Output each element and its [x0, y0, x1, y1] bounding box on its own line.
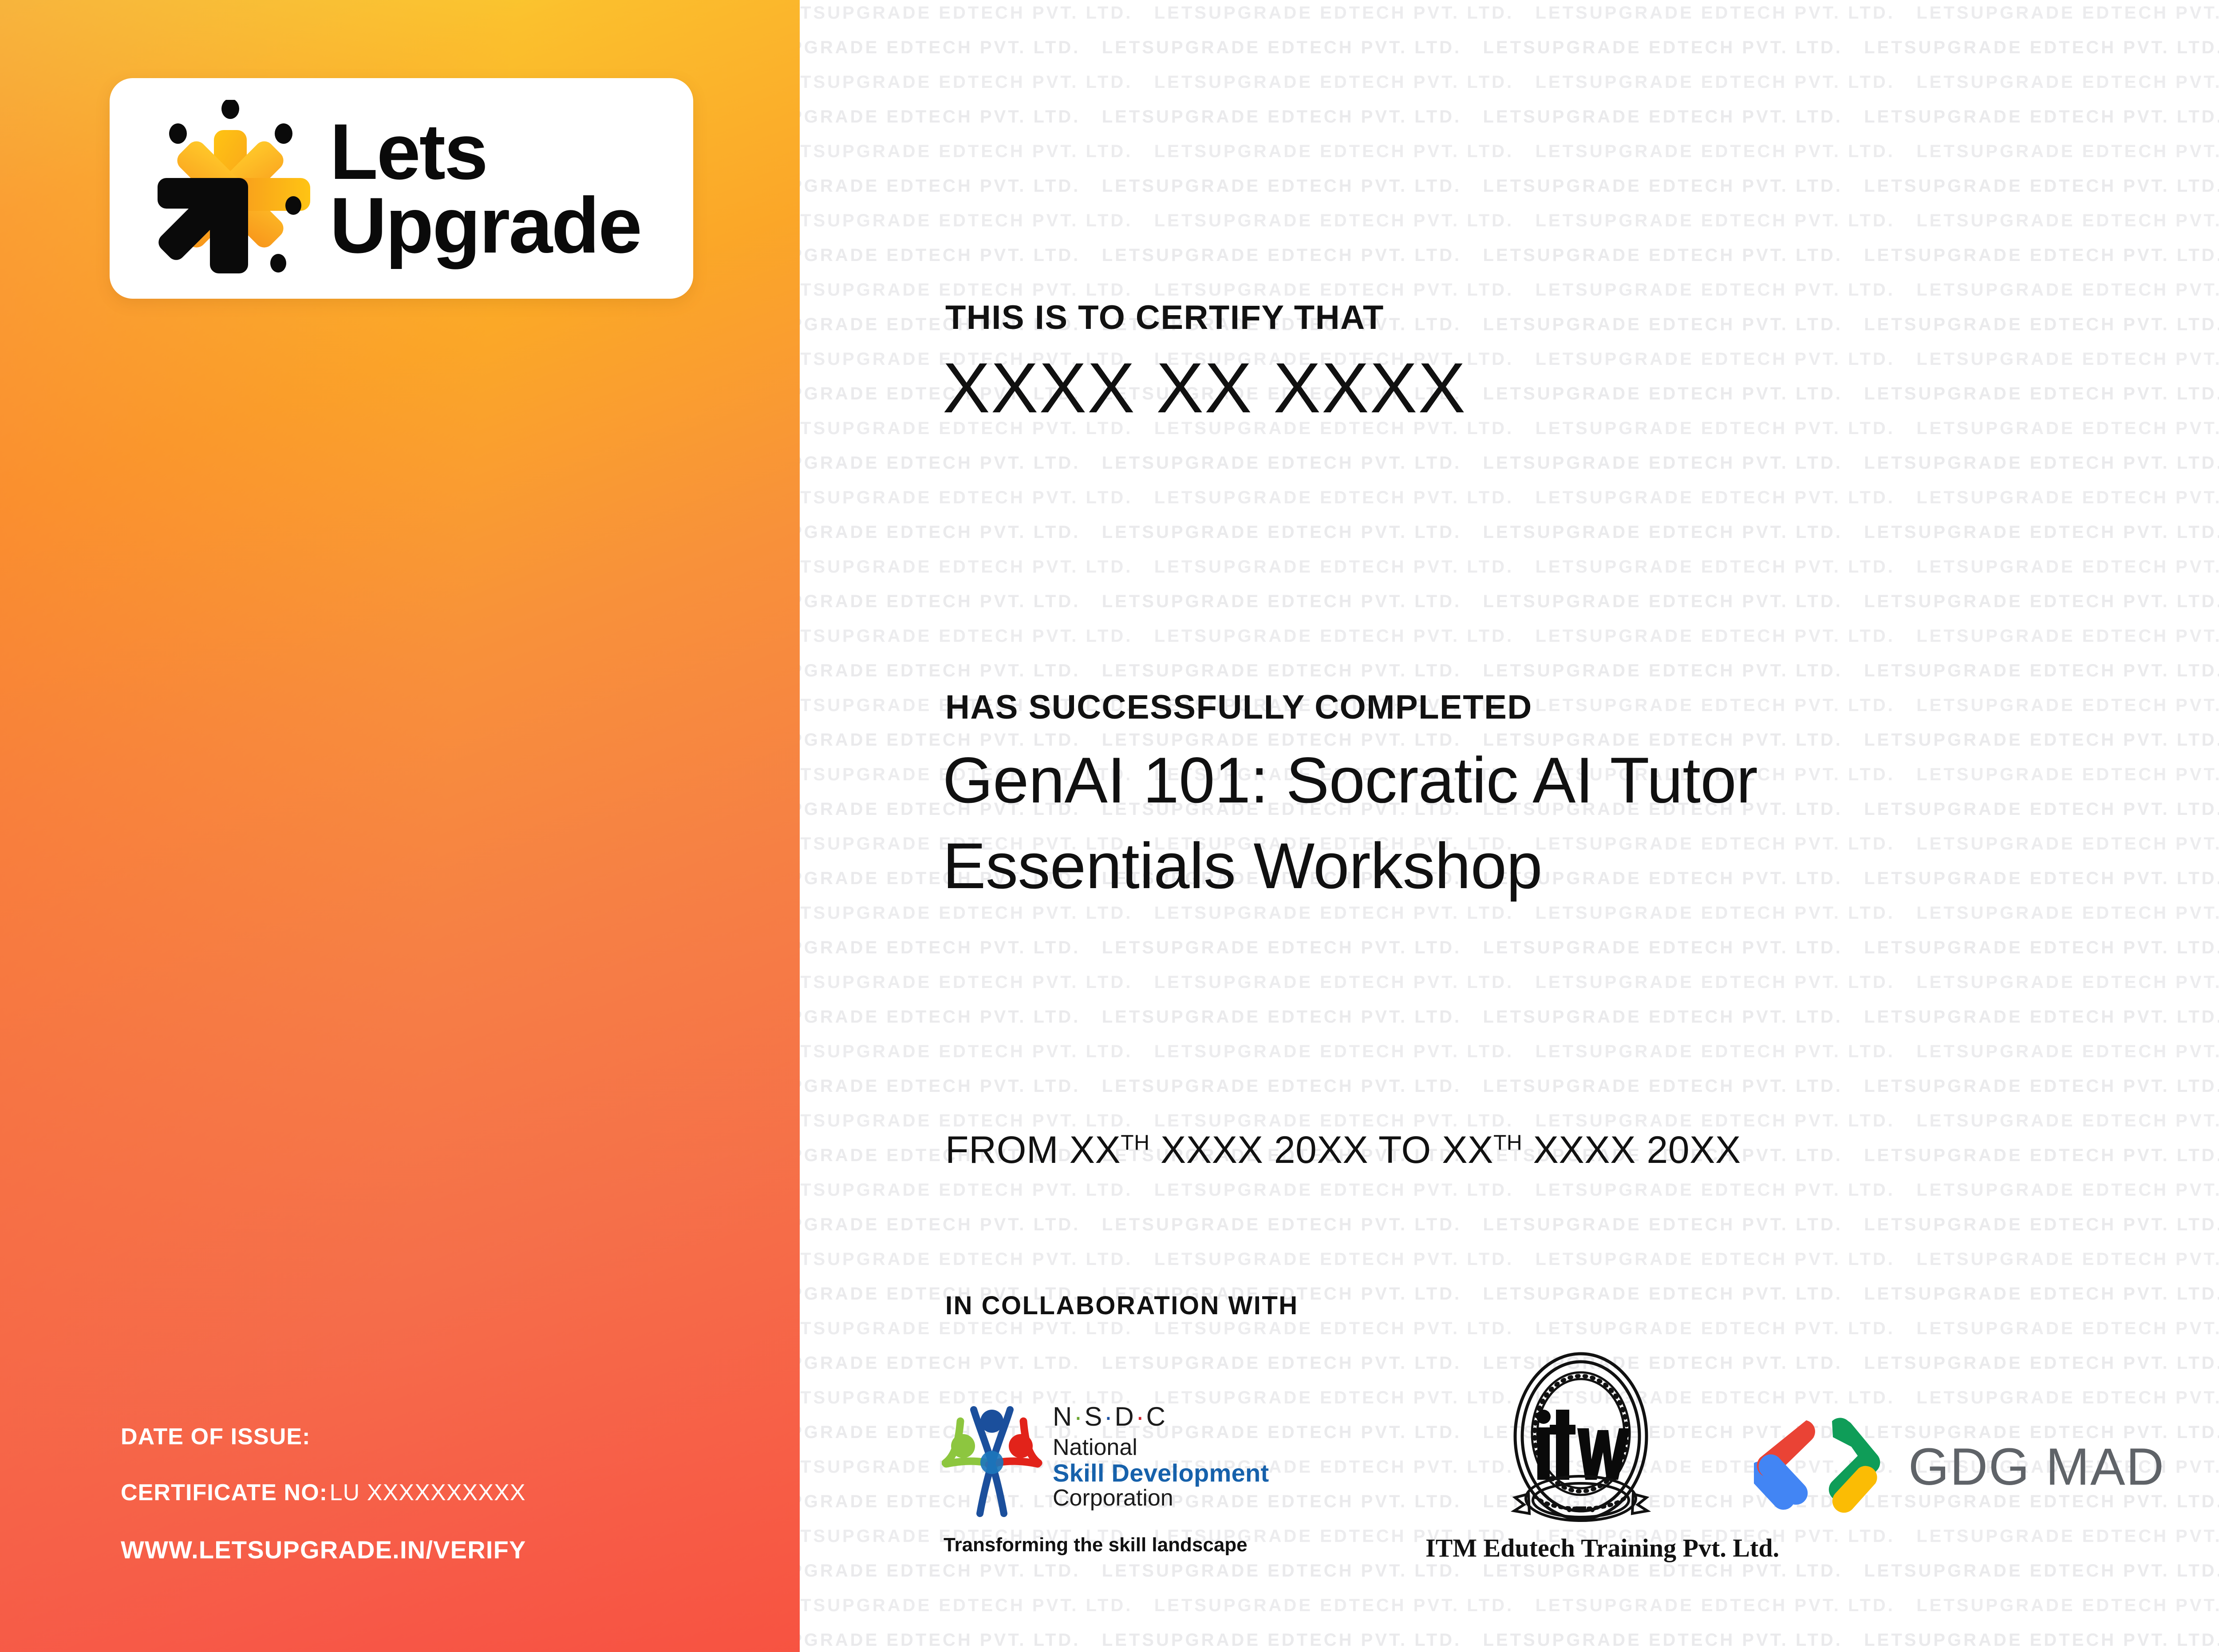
- nsdc-line-skill-development: Skill Development: [1053, 1460, 1269, 1486]
- nsdc-letter-d: D: [1114, 1402, 1135, 1431]
- certificate-content: THIS IS TO CERTIFY THAT XXXX XX XXXX HAS…: [800, 0, 2219, 1652]
- date-range-ordinal-1: TH: [1121, 1130, 1149, 1154]
- certificate-no-row: CERTIFICATE NO: LU XXXXXXXXXX: [121, 1479, 526, 1506]
- course-title: GenAI 101: Socratic AI Tutor Essentials …: [943, 738, 2021, 909]
- completed-label: HAS SUCCESSFULLY COMPLETED: [945, 688, 1532, 727]
- nsdc-letter-c: C: [1146, 1402, 1167, 1431]
- nsdc-people-icon: [942, 1394, 1044, 1527]
- partner-logos: N·S·D·C National Skill Development Corpo…: [911, 1349, 2219, 1598]
- partner-gdg: GDG MAD: [1754, 1416, 2165, 1518]
- date-range-ordinal-2: TH: [1493, 1130, 1522, 1154]
- partner-itm: ITM Edutech Training Pvt. Ltd.: [1425, 1349, 1736, 1563]
- recipient-name: XXXX XX XXXX: [943, 347, 1466, 429]
- date-of-issue-label: DATE OF ISSUE:: [121, 1424, 311, 1450]
- brand-wordmark-line1: Lets: [330, 115, 641, 189]
- gdg-name: GDG MAD: [1908, 1437, 2165, 1497]
- nsdc-letter-n: N: [1053, 1402, 1074, 1431]
- date-range-prefix: FROM XX: [945, 1129, 1121, 1171]
- itm-seal-icon: [1510, 1349, 1652, 1527]
- verify-url-row[interactable]: WWW.LETSUPGRADE.IN/VERIFY: [121, 1535, 526, 1564]
- certify-label: THIS IS TO CERTIFY THAT: [945, 298, 1384, 337]
- nsdc-abbreviation: N·S·D·C: [1053, 1403, 1269, 1430]
- certificate-body-panel: LETSUPGRADE EDTECH PVT. LTD. LETSUPGRADE…: [800, 0, 2219, 1652]
- brand-logo-card: Lets Upgrade: [110, 78, 693, 299]
- brand-wordmark-line2: Upgrade: [330, 189, 641, 262]
- nsdc-line-corporation: Corporation: [1053, 1486, 1269, 1510]
- date-range-mid: XXXX 20XX TO XX: [1150, 1129, 1493, 1171]
- date-of-issue-row: DATE OF ISSUE:: [121, 1423, 526, 1450]
- verify-url-link[interactable]: WWW.LETSUPGRADE.IN/VERIFY: [121, 1536, 526, 1564]
- collaboration-label: IN COLLABORATION WITH: [945, 1291, 1299, 1320]
- certificate-canvas: Lets Upgrade DATE OF ISSUE: CERTIFICATE …: [0, 0, 2219, 1652]
- nsdc-tagline: Transforming the skill landscape: [944, 1534, 1341, 1556]
- date-range-suffix: XXXX 20XX: [1522, 1129, 1741, 1171]
- certificate-no-label: CERTIFICATE NO:: [121, 1480, 328, 1506]
- letsupgrade-asterisk-logo-icon: [150, 100, 310, 277]
- partner-nsdc: N·S·D·C National Skill Development Corpo…: [942, 1394, 1341, 1556]
- issue-details-block: DATE OF ISSUE: CERTIFICATE NO: LU XXXXXX…: [121, 1423, 526, 1564]
- left-gradient-panel: Lets Upgrade DATE OF ISSUE: CERTIFICATE …: [0, 0, 800, 1652]
- itm-name: ITM Edutech Training Pvt. Ltd.: [1425, 1533, 1736, 1563]
- gdg-chevron-icon: [1754, 1416, 1887, 1518]
- brand-wordmark: Lets Upgrade: [330, 115, 641, 262]
- nsdc-line-national: National: [1053, 1435, 1269, 1460]
- nsdc-letter-s: S: [1084, 1402, 1104, 1431]
- certificate-no-value: LU XXXXXXXXXX: [330, 1480, 526, 1506]
- date-range: FROM XXTH XXXX 20XX TO XXTH XXXX 20XX: [945, 1128, 1741, 1172]
